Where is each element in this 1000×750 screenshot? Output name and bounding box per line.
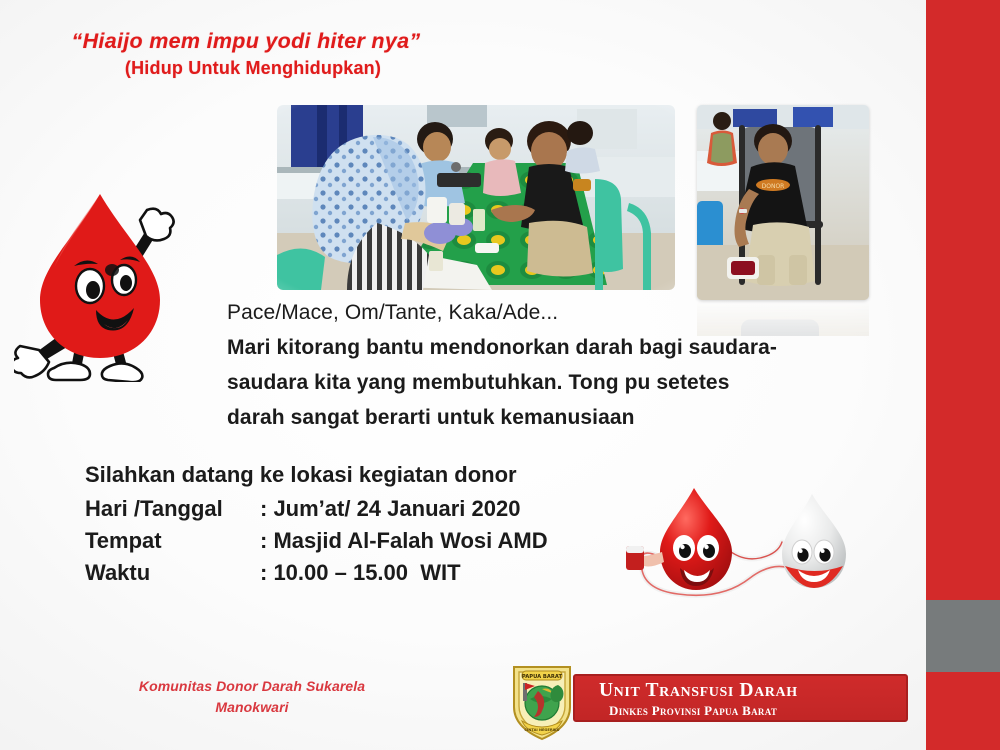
detail-row-time: Waktu : 10.00 – 15.00 WIT <box>85 560 655 586</box>
appeal-line-2: saudara kita yang membutuhkan. Tong pu s… <box>227 364 867 399</box>
detail-value-place: : Masjid Al-Falah Wosi AMD <box>260 528 548 554</box>
right-edge-red-bar-lower <box>926 674 1000 750</box>
details-intro: Silahkan datang ke lokasi kegiatan donor <box>85 462 655 488</box>
detail-row-date: Hari /Tanggal : Jum’at/ 24 Januari 2020 <box>85 496 655 522</box>
community-line-2: Manokwari <box>112 697 392 718</box>
blood-drop-duo-icon <box>622 482 860 618</box>
photo-donation-screening <box>277 105 675 290</box>
flyer-slide: “Hiaijo mem impu yodi hiter nya” (Hidup … <box>0 0 1000 750</box>
community-line-1: Komunitas Donor Darah Sukarela <box>112 676 392 697</box>
utd-banner: Unit Transfusi Darah Dinkes Provinsi Pap… <box>573 674 908 722</box>
svg-text:CINTAI NEGERIKU: CINTAI NEGERIKU <box>524 728 559 732</box>
papua-barat-emblem-icon: PAPUA BARAT CINTAI NEGERIKU <box>508 659 576 743</box>
svg-text:DONOR: DONOR <box>762 183 785 190</box>
detail-label-date: Hari /Tanggal <box>85 496 260 522</box>
detail-value-date: : Jum’at/ 24 Januari 2020 <box>260 496 520 522</box>
appeal-greeting: Pace/Mace, Om/Tante, Kaka/Ade... <box>227 296 867 329</box>
detail-label-place: Tempat <box>85 528 260 554</box>
photo-donor-in-chair: DONOR <box>697 105 869 300</box>
headline: “Hiaijo mem impu yodi hiter nya” (Hidup … <box>36 28 456 80</box>
detail-label-time: Waktu <box>85 560 260 586</box>
headline-translation: (Hidup Untuk Menghidupkan) <box>36 54 456 80</box>
appeal-line-3: darah sangat berarti untuk kemanusiaan <box>227 399 867 434</box>
blood-drop-mascot-icon <box>14 182 184 382</box>
utd-subtitle: Dinkes Provinsi Papua Barat <box>599 703 906 719</box>
appeal-line-1: Mari kitorang bantu mendonorkan darah ba… <box>227 329 867 364</box>
svg-text:PAPUA BARAT: PAPUA BARAT <box>522 674 563 680</box>
headline-motto: “Hiaijo mem impu yodi hiter nya” <box>36 28 456 54</box>
event-details: Silahkan datang ke lokasi kegiatan donor… <box>85 462 655 592</box>
detail-row-place: Tempat : Masjid Al-Falah Wosi AMD <box>85 528 655 554</box>
community-credit: Komunitas Donor Darah Sukarela Manokwari <box>112 676 392 718</box>
right-edge-gray-block <box>926 600 1000 672</box>
detail-value-time: : 10.00 – 15.00 WIT <box>260 560 461 586</box>
appeal-text: Pace/Mace, Om/Tante, Kaka/Ade... Mari ki… <box>227 296 867 434</box>
utd-title: Unit Transfusi Darah <box>599 679 906 703</box>
